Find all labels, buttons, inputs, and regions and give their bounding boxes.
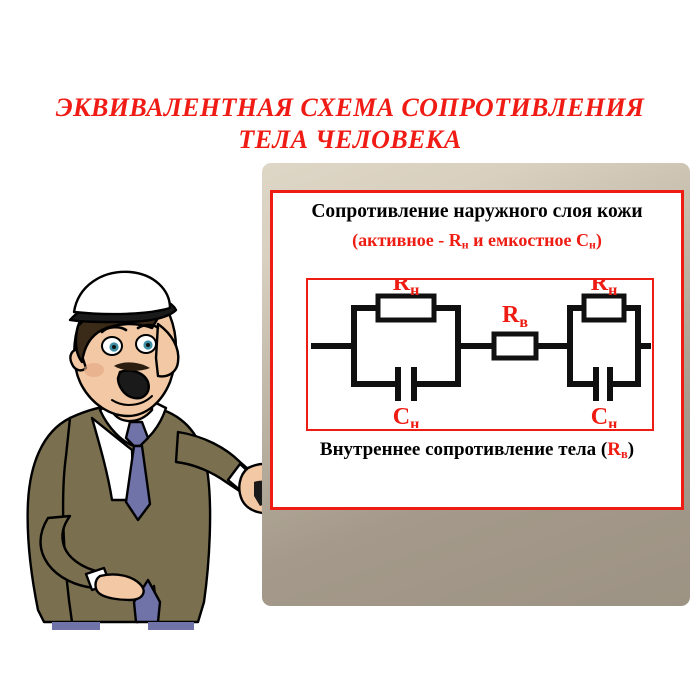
label-rv-middle: Rв	[502, 302, 528, 331]
resistor-rn-left	[378, 296, 434, 320]
panel-caption-top-formula: (активное - Rн и емкостное Cн)	[273, 230, 681, 253]
panel-caption-top: Сопротивление наружного слоя кожи	[273, 201, 681, 223]
caption-R-active: R	[449, 230, 462, 250]
resistor-rn-right	[584, 296, 624, 320]
caption-bottom-R-sub: в	[621, 447, 628, 461]
resistor-rv-middle	[494, 334, 536, 358]
label-cn-right: Cн	[591, 404, 618, 428]
caption-close-paren: )	[596, 230, 602, 250]
caption-mid-text: и емкостное	[469, 230, 576, 250]
circuit-diagram: Rн Cн Rв Rн Cн	[306, 278, 654, 431]
caption-bottom-R: R	[607, 439, 621, 460]
caption-open-paren: (активное -	[352, 230, 449, 250]
page-title-line2: ТЕЛА ЧЕЛОВЕКА	[0, 124, 700, 156]
slide-canvas: ЭКВИВАЛЕНТНАЯ СХЕМА СОПРОТИВЛЕНИЯ ТЕЛА Ч…	[0, 0, 700, 700]
label-cn-left: Cн	[393, 404, 420, 428]
cartoon-presenter	[8, 250, 298, 630]
caption-bottom-close: )	[628, 439, 634, 460]
caption-C-capacitive: C	[576, 230, 589, 250]
panel-caption-bottom: Внутреннее сопротивление тела (Rв)	[273, 439, 681, 462]
diagram-panel: Сопротивление наружного слоя кожи (актив…	[270, 190, 684, 510]
page-title: ЭКВИВАЛЕНТНАЯ СХЕМА СОПРОТИВЛЕНИЯ ТЕЛА Ч…	[0, 92, 700, 156]
caption-C-capacitive-sub: н	[589, 238, 596, 252]
page-title-line1: ЭКВИВАЛЕНТНАЯ СХЕМА СОПРОТИВЛЕНИЯ	[56, 93, 645, 122]
caption-bottom-text: Внутреннее сопротивление тела (	[320, 439, 607, 460]
caption-R-active-sub: н	[462, 238, 469, 252]
